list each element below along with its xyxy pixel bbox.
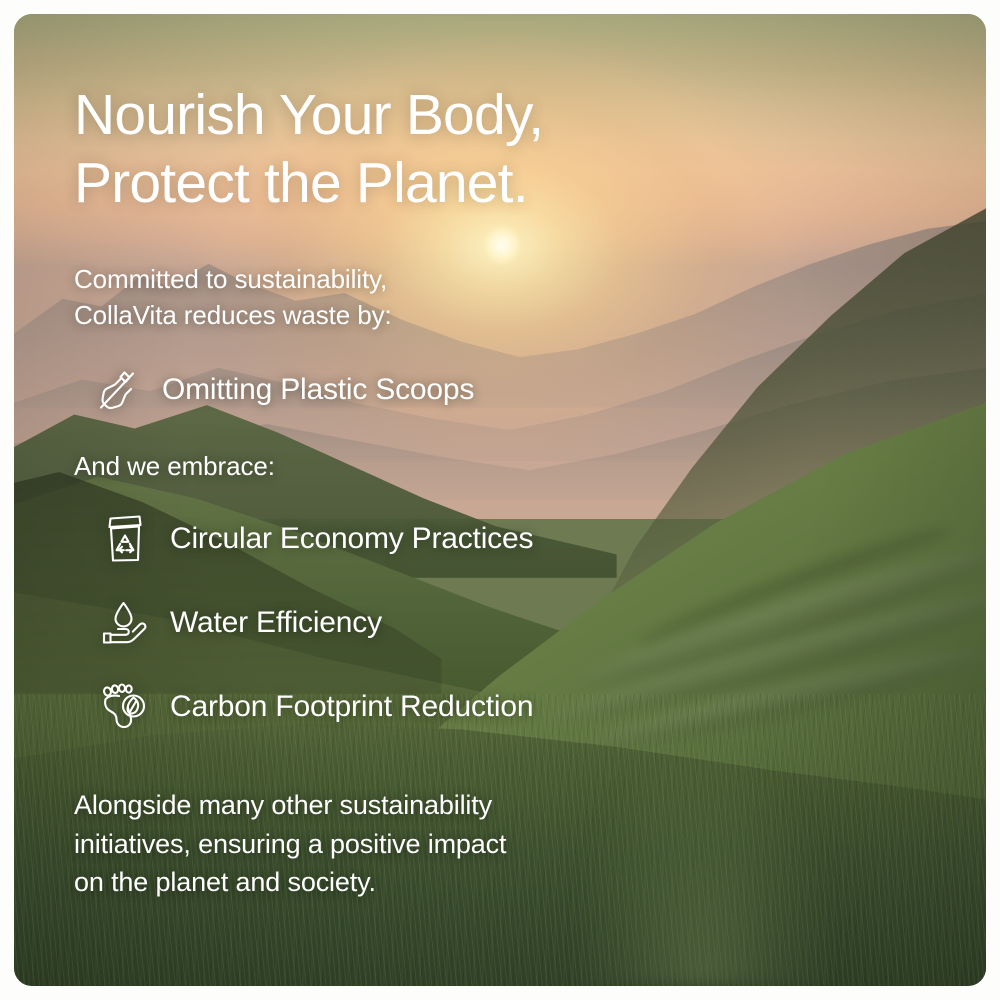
embrace-subheading: And we embrace: <box>74 451 986 482</box>
no-plastic-scoop-icon <box>92 363 142 417</box>
page-title: Nourish Your Body, Protect the Planet. <box>74 82 986 218</box>
closing-paragraph: Alongside many other sustainability init… <box>74 786 986 901</box>
headline-line-2: Protect the Planet. <box>74 150 986 218</box>
outro-line-1: Alongside many other sustainability <box>74 786 986 824</box>
background-photo-scene: Nourish Your Body, Protect the Planet. C… <box>14 14 986 986</box>
embrace-list: Circular Economy Practices Water Efficie… <box>74 512 986 734</box>
feature-carbon-footprint-reduction: Carbon Footprint Reduction <box>74 680 986 734</box>
feature-omitting-plastic-scoops: Omitting Plastic Scoops <box>74 363 986 417</box>
feature-label: Circular Economy Practices <box>170 522 533 556</box>
recycling-bin-icon <box>100 512 150 566</box>
headline-line-1: Nourish Your Body, <box>74 82 986 150</box>
outro-line-2: initiatives, ensuring a positive impact <box>74 825 986 863</box>
lead-line-2: CollaVita reduces waste by: <box>74 298 986 334</box>
content-overlay: Nourish Your Body, Protect the Planet. C… <box>14 14 986 986</box>
feature-water-efficiency: Water Efficiency <box>74 596 986 650</box>
feature-label: Carbon Footprint Reduction <box>170 690 533 724</box>
water-drop-hand-icon <box>100 596 150 650</box>
feature-label: Omitting Plastic Scoops <box>162 373 474 407</box>
carbon-footprint-leaf-icon <box>100 680 150 734</box>
image-frame: Nourish Your Body, Protect the Planet. C… <box>0 0 1000 1000</box>
lead-paragraph: Committed to sustainability, CollaVita r… <box>74 262 986 334</box>
feature-circular-economy-practices: Circular Economy Practices <box>74 512 986 566</box>
lead-line-1: Committed to sustainability, <box>74 262 986 298</box>
outro-line-3: on the planet and society. <box>74 863 986 901</box>
feature-label: Water Efficiency <box>170 606 382 640</box>
